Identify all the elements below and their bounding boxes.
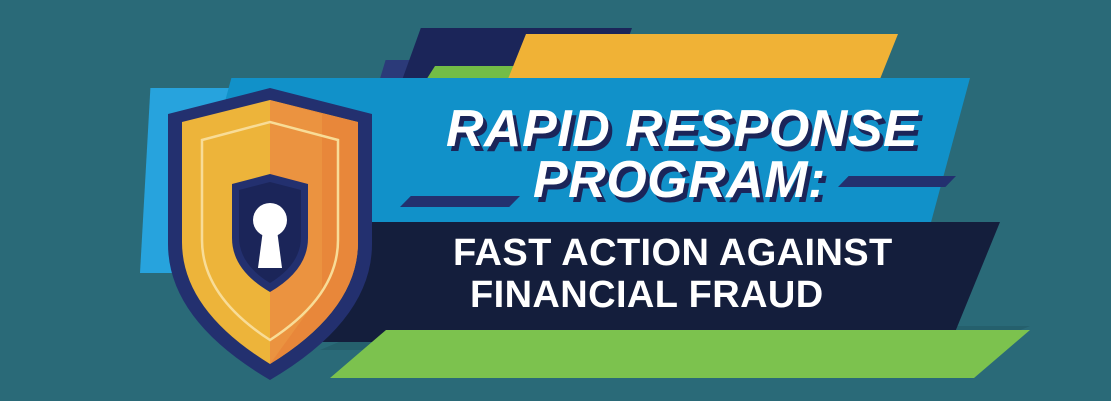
headline-line-2: PROGRAM: (533, 150, 826, 210)
accent-dash-right-icon (838, 176, 956, 187)
shield-keyhole-icon (160, 92, 380, 388)
subheadline-line-2: FINANCIAL FRAUD (470, 274, 824, 317)
decorative-band-green-bottom (330, 330, 1030, 378)
accent-dash-left-icon (400, 196, 520, 207)
banner-root: RAPID RESPONSE PROGRAM: FAST ACTION AGAI… (0, 0, 1111, 401)
subheadline-line-1: FAST ACTION AGAINST (453, 232, 893, 275)
